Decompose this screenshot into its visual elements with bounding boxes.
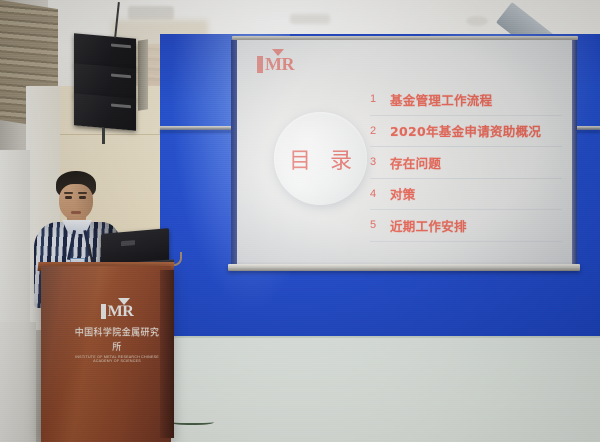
presenter-face-shading bbox=[59, 184, 93, 220]
podium-institution-plate: MR 中国科学院金属研究所 INSTITUTE OF METAL RESEARC… bbox=[74, 304, 160, 356]
laptop-brand-logo-icon bbox=[121, 240, 135, 246]
ceiling-spotlight bbox=[466, 16, 488, 26]
wall-corner-edge bbox=[0, 150, 30, 340]
toc-item-3: 3 存在问题 bbox=[370, 147, 562, 179]
toc-item-2: 2 2020年基金申请资助概况 bbox=[370, 116, 562, 148]
toc-list: 1 基金管理工作流程 2 2020年基金申请资助概况 3 存在问题 4 对策 5… bbox=[370, 84, 562, 242]
speaker-label-plate bbox=[111, 74, 131, 79]
podium-imr-triangle-icon bbox=[118, 298, 130, 305]
presenter-eye-left bbox=[65, 196, 72, 199]
imr-i-bar-icon bbox=[257, 56, 263, 73]
ceiling-panel-seam-2 bbox=[290, 14, 330, 24]
toc-item-5: 5 近期工作安排 bbox=[370, 210, 562, 242]
toc-item-number: 2 bbox=[370, 125, 390, 137]
speaker-label-plate bbox=[111, 104, 131, 109]
podium-org-name-en: INSTITUTE OF METAL RESEARCH CHINESE ACAD… bbox=[74, 355, 160, 363]
projection-screen-weight-bar bbox=[228, 264, 580, 271]
ceiling-panel-seam bbox=[128, 6, 174, 20]
slide-imr-logo: MR bbox=[257, 56, 294, 73]
toc-item-number: 3 bbox=[370, 156, 390, 168]
speaker-mount-bracket bbox=[138, 39, 148, 110]
imr-triangle-icon bbox=[272, 49, 284, 56]
imr-logo-text: MR bbox=[265, 56, 294, 73]
toc-item-4: 4 对策 bbox=[370, 179, 562, 211]
speaker-module-bottom bbox=[74, 93, 136, 130]
podium-imr-i-bar-icon bbox=[101, 304, 106, 319]
podium-imr-logo: MR bbox=[101, 304, 134, 319]
toc-badge-label: 目 录 bbox=[283, 143, 358, 175]
toc-item-label: 基金管理工作流程 bbox=[390, 90, 492, 109]
projection-screen-right-edge bbox=[572, 40, 577, 266]
floor-reflection bbox=[170, 338, 600, 442]
presenter-eyebrow-right bbox=[78, 192, 87, 194]
toc-item-label: 近期工作安排 bbox=[390, 216, 467, 235]
floor-cable bbox=[170, 418, 214, 425]
toc-item-label: 对策 bbox=[390, 184, 416, 203]
podium-org-name-cn: 中国科学院金属研究所 bbox=[74, 325, 160, 354]
toc-item-label: 存在问题 bbox=[390, 153, 441, 172]
presenter-mouth bbox=[71, 211, 81, 214]
toc-item-1: 1 基金管理工作流程 bbox=[370, 84, 562, 116]
toc-badge-circle: 目 录 bbox=[274, 112, 367, 205]
speaker-support-pole bbox=[102, 128, 105, 144]
toc-item-number: 4 bbox=[370, 188, 390, 200]
toc-item-number: 5 bbox=[370, 219, 390, 231]
floor-left-edge-strip bbox=[0, 322, 36, 442]
toc-item-number: 1 bbox=[370, 93, 390, 105]
projection-screen: MR 目 录 1 基金管理工作流程 2 2020年基金申请资助概况 3 存在问题… bbox=[237, 40, 572, 266]
presenter-eye-right bbox=[79, 196, 86, 199]
toc-item-label: 2020年基金申请资助概况 bbox=[390, 121, 541, 140]
podium-imr-logo-text: MR bbox=[108, 304, 134, 319]
speaker-label-plate bbox=[111, 44, 131, 49]
presenter-eyebrow-left bbox=[64, 192, 73, 194]
conference-room-photo: MR 目 录 1 基金管理工作流程 2 2020年基金申请资助概况 3 存在问题… bbox=[0, 0, 600, 442]
